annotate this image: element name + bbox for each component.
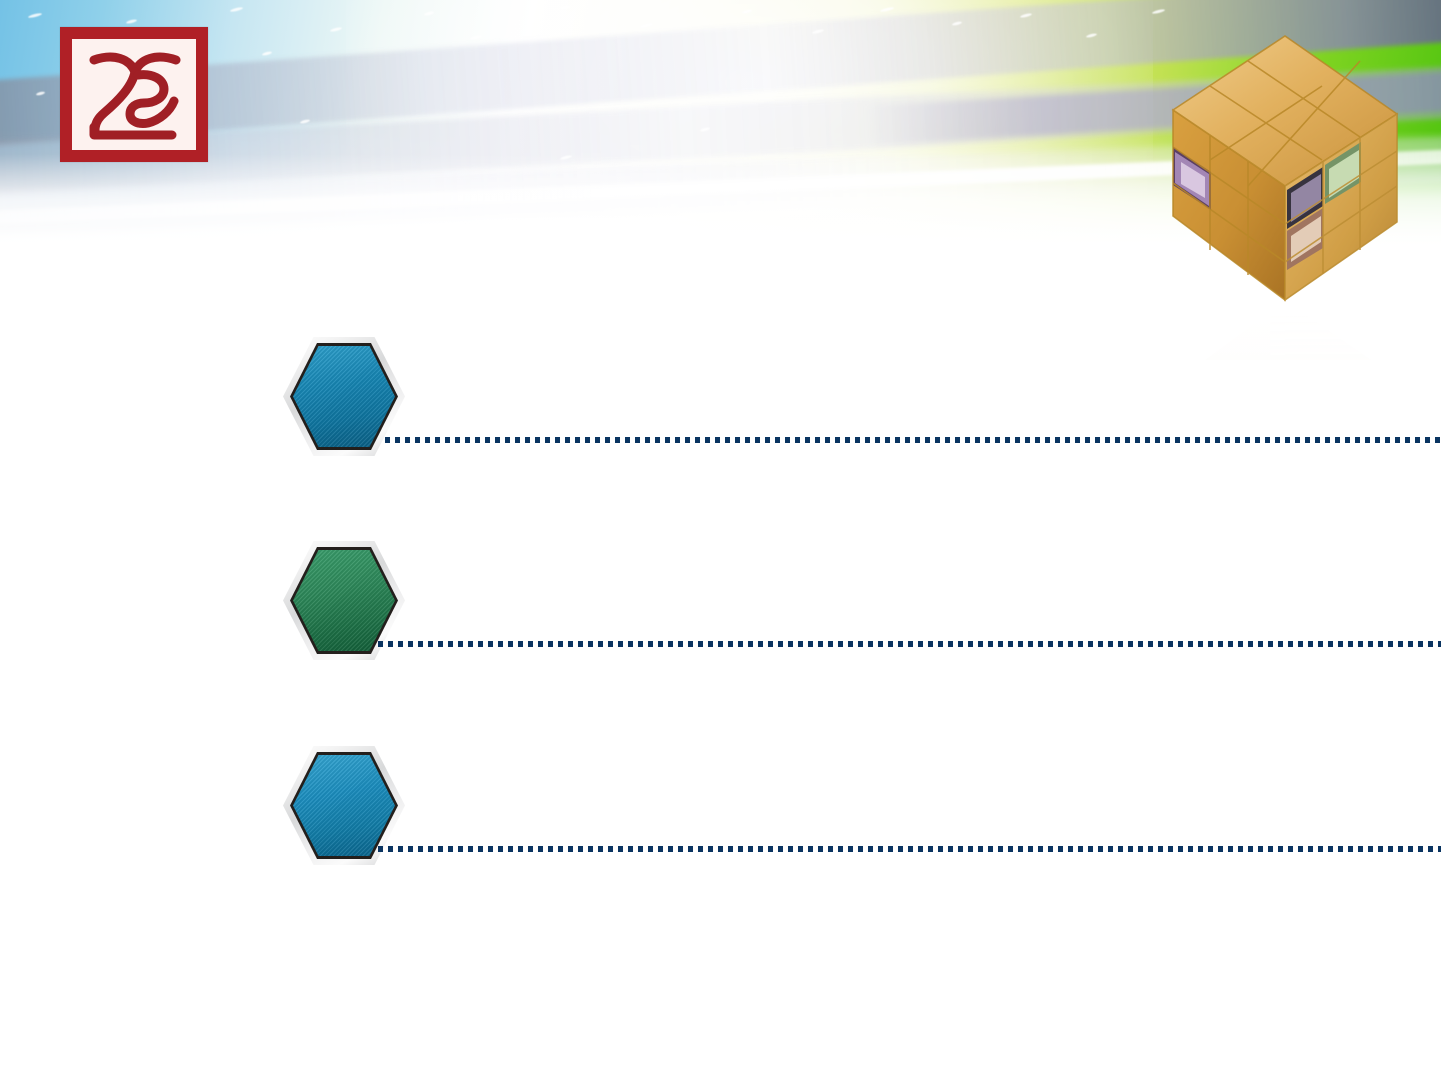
dotted-line <box>378 846 1441 852</box>
connector-line <box>378 641 1441 647</box>
dotted-line <box>385 437 1441 443</box>
institution-logo <box>60 27 208 162</box>
presentation-slide <box>0 0 1441 1081</box>
connector-line <box>385 437 1441 443</box>
dotted-line <box>378 641 1441 647</box>
connector-line <box>378 846 1441 852</box>
logo-glyph-icon <box>60 27 208 162</box>
golden-photo-cube-graphic <box>1135 10 1435 360</box>
